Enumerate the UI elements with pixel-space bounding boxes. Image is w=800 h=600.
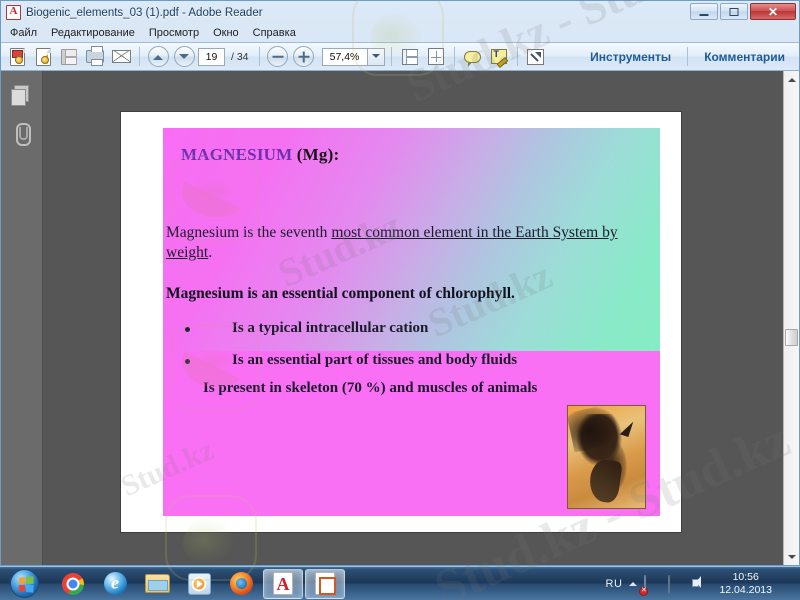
toolbar-separator (391, 47, 392, 66)
menu-item-edit[interactable]: Редактирование (51, 27, 135, 39)
document-area: MAGNESIUM (Mg): Magnesium is the seventh… (1, 71, 799, 565)
adobe-reader-window: Biogenic_elements_03 (1).pdf - Adobe Rea… (0, 0, 800, 566)
slide-paragraph: Magnesium is the seventh most common ele… (166, 223, 636, 263)
list-item: Is an essential part of tissues and body… (185, 352, 635, 369)
fit-page-icon[interactable] (424, 45, 448, 69)
clock-date: 12.04.2013 (719, 584, 772, 597)
file-explorer-icon (145, 574, 170, 593)
attachments-icon[interactable] (10, 121, 34, 145)
network-disconnected-icon[interactable] (644, 576, 661, 591)
slide-content: MAGNESIUM (Mg): Magnesium is the seventh… (163, 128, 660, 516)
system-tray: RU 10:56 12.04.2013 (606, 571, 800, 597)
toolbar-separator (687, 47, 688, 66)
chevron-down-icon[interactable] (368, 48, 385, 66)
scroll-down-icon[interactable] (784, 549, 799, 565)
navigation-pane (1, 71, 43, 565)
menubar: Файл Редактирование Просмотр Окно Справк… (1, 24, 799, 42)
print-icon[interactable] (83, 45, 107, 69)
slide-title-paren: (Mg): (292, 145, 339, 164)
show-hidden-icons-icon[interactable] (629, 578, 637, 586)
toolbar-separator (139, 47, 140, 66)
minimize-button[interactable] (690, 3, 718, 20)
taskbar: RU 10:56 12.04.2013 (0, 566, 800, 600)
save-copy-icon[interactable] (398, 45, 422, 69)
internet-explorer-icon (104, 572, 127, 595)
clock-time: 10:56 (719, 571, 772, 584)
firefox-icon (230, 572, 253, 595)
windows-start-orb[interactable] (1, 568, 47, 600)
taskbar-item-media-player[interactable] (179, 569, 219, 599)
save-icon[interactable] (57, 45, 81, 69)
menu-item-window[interactable]: Окно (213, 27, 239, 39)
taskbar-item-internet-explorer[interactable] (95, 569, 135, 599)
highlight-text-icon[interactable] (487, 45, 511, 69)
close-icon: ✕ (768, 6, 778, 18)
horse-photo (567, 405, 646, 509)
create-pdf-icon[interactable] (5, 45, 29, 69)
clock[interactable]: 10:56 12.04.2013 (716, 571, 778, 597)
paragraph-lead: Magnesium is the seventh (166, 224, 331, 241)
menu-item-file[interactable]: Файл (10, 27, 37, 39)
pdf-icon (6, 5, 21, 20)
menu-item-view[interactable]: Просмотр (149, 27, 199, 39)
slide-title: MAGNESIUM (Mg): (181, 145, 339, 165)
menu-item-help[interactable]: Справка (253, 27, 296, 39)
scroll-up-icon[interactable] (784, 71, 799, 87)
tools-button[interactable]: Инструменты (580, 50, 681, 64)
window-controls: ✕ (690, 3, 796, 20)
email-icon[interactable] (109, 45, 133, 69)
volume-icon[interactable] (692, 576, 709, 591)
slide-bullet-list: Is a typical intracellular cation Is an … (185, 320, 635, 384)
maximize-button[interactable] (720, 3, 748, 20)
paragraph-end: . (208, 244, 212, 261)
toolbar-separator (259, 47, 260, 66)
zoom-out-icon[interactable] (266, 45, 290, 69)
adobe-reader-icon (273, 572, 293, 595)
slide-last-line: Is present in skeleton (70 %) and muscle… (203, 380, 537, 397)
chrome-icon (62, 573, 84, 595)
page-thumbnails-icon[interactable] (10, 81, 34, 105)
taskbar-item-chrome[interactable] (53, 569, 93, 599)
taskbar-item-adobe-reader[interactable] (263, 569, 303, 599)
taskbar-items (53, 569, 345, 599)
taskbar-item-firefox[interactable] (221, 569, 261, 599)
network-monitor-icon[interactable] (668, 576, 685, 591)
read-mode-icon[interactable] (524, 45, 548, 69)
zoom-in-icon[interactable] (292, 45, 316, 69)
sticky-note-icon[interactable] (461, 45, 485, 69)
next-page-icon[interactable] (172, 45, 196, 69)
previous-page-icon[interactable] (146, 45, 170, 69)
titlebar: Biogenic_elements_03 (1).pdf - Adobe Rea… (1, 1, 799, 24)
comments-button[interactable]: Комментарии (694, 50, 795, 64)
language-indicator[interactable]: RU (606, 578, 623, 590)
page-total-label: / 34 (227, 51, 253, 63)
taskbar-item-explorer[interactable] (137, 569, 177, 599)
slide-bold-line: Magnesium is an essential component of c… (166, 285, 515, 303)
scrollbar-thumb[interactable] (785, 329, 798, 346)
close-button[interactable]: ✕ (750, 3, 796, 20)
slide-title-main: MAGNESIUM (181, 145, 292, 164)
toolbar-separator (517, 47, 518, 66)
taskbar-item-powerpoint[interactable] (305, 569, 345, 599)
windows-media-player-icon (188, 573, 211, 595)
page-viewport[interactable]: MAGNESIUM (Mg): Magnesium is the seventh… (43, 71, 799, 565)
export-pdf-icon[interactable] (31, 45, 55, 69)
toolbar: 19 / 34 57,4% Инструменты Комментарии (1, 42, 799, 71)
list-item: Is a typical intracellular cation (185, 320, 635, 337)
page-number-input[interactable]: 19 (198, 48, 225, 66)
window-title: Biogenic_elements_03 (1).pdf - Adobe Rea… (26, 7, 263, 19)
powerpoint-icon (315, 572, 335, 595)
toolbar-separator (454, 47, 455, 66)
zoom-level-input[interactable]: 57,4% (322, 48, 368, 66)
pdf-page: MAGNESIUM (Mg): Magnesium is the seventh… (121, 112, 681, 532)
vertical-scrollbar[interactable] (783, 71, 799, 565)
